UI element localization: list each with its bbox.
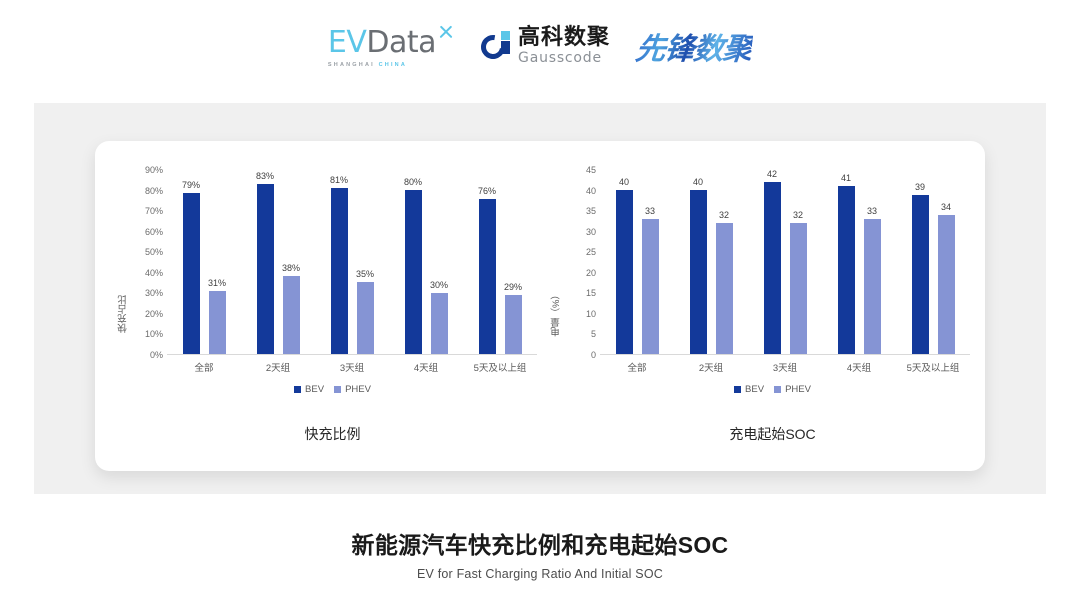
y-tick: 90% [145, 165, 163, 175]
legend-item-bev[interactable]: BEV [294, 384, 324, 395]
bar-group: 4033 [600, 170, 674, 354]
x-tick-label: 2天组 [241, 360, 315, 374]
x-tick-label: 5天及以上组 [896, 360, 970, 374]
logo-bar: EV Data SHANGHAI CHINA 高科数聚 Gausscode 先锋… [0, 24, 1080, 68]
y-tick: 20 [586, 268, 596, 278]
bar-bev[interactable]: 81% [331, 188, 348, 354]
legend-right: BEVPHEV [540, 384, 985, 395]
bar-group: 4032 [674, 170, 748, 354]
bar-group: 76%29% [463, 170, 537, 354]
bar-phev[interactable]: 35% [357, 282, 374, 354]
y-tick: 30 [586, 227, 596, 237]
page-subtitle: EV for Fast Charging Ratio And Initial S… [0, 567, 1080, 581]
bar-fill [405, 190, 422, 354]
gausscode-g-icon [481, 31, 511, 61]
y-tick: 25 [586, 247, 596, 257]
legend-label: PHEV [785, 384, 811, 395]
bar-bev[interactable]: 80% [405, 190, 422, 354]
evdata-tagline-country: CHINA [379, 62, 407, 68]
chart-fast-charging-ratio: 快充占比 90%80%70%60%50%40%30%20%10%0% 79%31… [95, 141, 540, 471]
bar-phev[interactable]: 33 [642, 219, 659, 354]
plot-area-right: 电量（%） 454035302520151050 403340324232413… [550, 166, 970, 461]
x-axis-categories-right: 全部2天组3天组4天组5天及以上组 [600, 360, 970, 374]
y-tick: 50% [145, 247, 163, 257]
bar-value-label: 34 [941, 202, 951, 212]
bar-group: 81%35% [315, 170, 389, 354]
y-tick: 10% [145, 329, 163, 339]
bar-fill [479, 199, 496, 354]
legend-label: PHEV [345, 384, 371, 395]
chart-initial-soc: 电量（%） 454035302520151050 403340324232413… [540, 141, 985, 471]
y-tick: 80% [145, 186, 163, 196]
bar-group: 79%31% [167, 170, 241, 354]
bar-value-label: 38% [282, 263, 300, 273]
page-title: 新能源汽车快充比例和充电起始SOC [0, 526, 1080, 560]
legend-swatch [774, 386, 781, 393]
y-tick: 35 [586, 206, 596, 216]
bar-value-label: 40 [693, 177, 703, 187]
x-tick-label: 2天组 [674, 360, 748, 374]
bar-value-label: 33 [645, 206, 655, 216]
y-tick: 40% [145, 268, 163, 278]
legend-label: BEV [305, 384, 324, 395]
bar-phev[interactable]: 30% [431, 293, 448, 354]
plot-area-left: 快充占比 90%80%70%60%50%40%30%20%10%0% 79%31… [117, 166, 537, 461]
y-tick: 30% [145, 288, 163, 298]
evdata-logo: EV Data SHANGHAI CHINA [328, 25, 455, 68]
legend-swatch [334, 386, 341, 393]
y-axis-ticks-left: 90%80%70%60%50%40%30%20%10%0% [133, 170, 167, 355]
x-tick-label: 4天组 [822, 360, 896, 374]
bar-phev[interactable]: 32 [716, 223, 733, 354]
bar-fill [209, 291, 226, 354]
bar-value-label: 30% [430, 280, 448, 290]
bar-fill [912, 195, 929, 354]
bar-group: 83%38% [241, 170, 315, 354]
bar-phev[interactable]: 38% [283, 276, 300, 354]
bars-area-left: 79%31%83%38%81%35%80%30%76%29% 全部2天组3天组4… [167, 170, 537, 355]
x-tick-label: 3天组 [748, 360, 822, 374]
charts-container: 快充占比 90%80%70%60%50%40%30%20%10%0% 79%31… [95, 141, 985, 471]
bar-value-label: 42 [767, 169, 777, 179]
bar-value-label: 39 [915, 182, 925, 192]
bar-groups-left: 79%31%83%38%81%35%80%30%76%29% [167, 170, 537, 354]
bar-bev[interactable]: 79% [183, 193, 200, 355]
bar-phev[interactable]: 32 [790, 223, 807, 354]
bar-group: 4232 [748, 170, 822, 354]
bar-group: 4133 [822, 170, 896, 354]
y-tick: 10 [586, 309, 596, 319]
evdata-tagline: SHANGHAI CHINA [328, 62, 407, 68]
bar-value-label: 81% [330, 175, 348, 185]
bar-phev[interactable]: 29% [505, 295, 522, 354]
bar-bev[interactable]: 41 [838, 186, 855, 354]
bar-fill [642, 219, 659, 354]
x-axis-categories-left: 全部2天组3天组4天组5天及以上组 [167, 360, 537, 374]
bar-value-label: 80% [404, 177, 422, 187]
bar-value-label: 83% [256, 171, 274, 181]
bar-value-label: 40 [619, 177, 629, 187]
evdata-wordmark: EV Data [328, 25, 455, 60]
legend-item-bev[interactable]: BEV [734, 384, 764, 395]
bar-fill [505, 295, 522, 354]
bar-bev[interactable]: 83% [257, 184, 274, 354]
y-tick: 45 [586, 165, 596, 175]
chart-title-right: 充电起始SOC [540, 424, 985, 444]
bar-value-label: 29% [504, 282, 522, 292]
bar-fill [257, 184, 274, 354]
x-tick-label: 全部 [167, 360, 241, 374]
bar-fill [616, 190, 633, 354]
y-tick: 0% [150, 350, 163, 360]
bar-value-label: 33 [867, 206, 877, 216]
bar-phev[interactable]: 33 [864, 219, 881, 354]
legend-swatch [734, 386, 741, 393]
x-tick-label: 3天组 [315, 360, 389, 374]
bar-fill [431, 293, 448, 354]
legend-item-phev[interactable]: PHEV [774, 384, 811, 395]
y-tick: 0 [591, 350, 596, 360]
legend-item-phev[interactable]: PHEV [334, 384, 371, 395]
bar-groups-right: 40334032423241333934 [600, 170, 970, 354]
bar-fill [864, 219, 881, 354]
charts-card: 快充占比 90%80%70%60%50%40%30%20%10%0% 79%31… [95, 141, 985, 471]
gausscode-wordmark: 高科数聚 Gausscode [518, 27, 610, 65]
y-tick: 60% [145, 227, 163, 237]
chart-title-left: 快充比例 [95, 424, 540, 444]
bar-bev[interactable]: 40 [690, 190, 707, 354]
gausscode-cn-text: 高科数聚 [518, 27, 610, 49]
slide-root: EV Data SHANGHAI CHINA 高科数聚 Gausscode 先锋… [0, 0, 1080, 608]
evdata-tagline-city: SHANGHAI [328, 62, 379, 68]
bar-value-label: 32 [793, 210, 803, 220]
bar-fill [838, 186, 855, 354]
gausscode-logo: 高科数聚 Gausscode [481, 27, 610, 65]
bar-fill [331, 188, 348, 354]
bar-bev[interactable]: 40 [616, 190, 633, 354]
y-axis-label-left: 快充占比 [117, 295, 131, 333]
gausscode-en-text: Gausscode [518, 51, 610, 65]
y-tick: 70% [145, 206, 163, 216]
bar-bev[interactable]: 76% [479, 199, 496, 354]
bar-fill [716, 223, 733, 354]
y-tick: 20% [145, 309, 163, 319]
bar-value-label: 79% [182, 180, 200, 190]
x-tick-label: 全部 [600, 360, 674, 374]
bar-value-label: 31% [208, 278, 226, 288]
bar-value-label: 41 [841, 173, 851, 183]
bar-bev[interactable]: 39 [912, 195, 929, 354]
bar-group: 3934 [896, 170, 970, 354]
x-tick-label: 4天组 [389, 360, 463, 374]
bars-area-right: 40334032423241333934 全部2天组3天组4天组5天及以上组 [600, 170, 970, 355]
x-superscript-icon [437, 23, 455, 41]
bar-fill [790, 223, 807, 354]
evdata-ev-text: EV [328, 25, 366, 60]
bar-phev[interactable]: 31% [209, 291, 226, 354]
bar-value-label: 35% [356, 269, 374, 279]
y-axis-ticks-right: 454035302520151050 [566, 170, 600, 355]
xianfeng-logo: 先锋数聚 [634, 24, 755, 68]
y-tick: 40 [586, 186, 596, 196]
bar-fill [357, 282, 374, 354]
y-axis-label-right: 电量（%） [550, 290, 564, 336]
x-tick-label: 5天及以上组 [463, 360, 537, 374]
bar-fill [764, 182, 781, 354]
bar-bev[interactable]: 42 [764, 182, 781, 354]
bar-fill [183, 193, 200, 355]
evdata-data-text: Data [366, 25, 436, 60]
y-tick: 15 [586, 288, 596, 298]
bar-group: 80%30% [389, 170, 463, 354]
bar-phev[interactable]: 34 [938, 215, 955, 354]
legend-swatch [294, 386, 301, 393]
bar-fill [938, 215, 955, 354]
footer-titles: 新能源汽车快充比例和充电起始SOC EV for Fast Charging R… [0, 526, 1080, 581]
legend-label: BEV [745, 384, 764, 395]
bar-fill [283, 276, 300, 354]
y-tick: 5 [591, 329, 596, 339]
bar-value-label: 76% [478, 186, 496, 196]
bar-fill [690, 190, 707, 354]
bar-value-label: 32 [719, 210, 729, 220]
legend-left: BEVPHEV [95, 384, 540, 395]
